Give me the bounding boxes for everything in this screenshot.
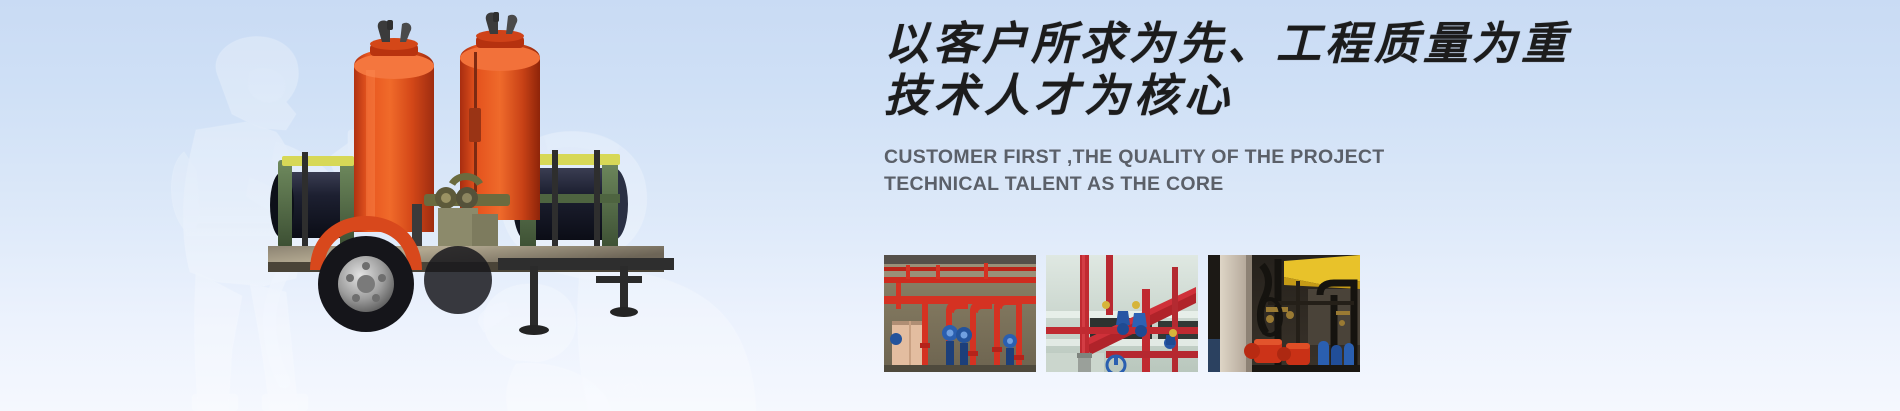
headline-line-2: 技术人才为核心 <box>884 70 1644 122</box>
thumbnail-strip <box>884 255 1360 372</box>
thumbnail-sprinkler-riser-room[interactable] <box>884 255 1036 372</box>
product-photo-mobile-foam-unit <box>262 8 682 338</box>
subtitle-line-2: TECHNICAL TALENT AS THE CORE <box>884 171 1644 198</box>
hero-text-block: 以客户所求为先、工程质量为重 技术人才为核心 CUSTOMER FIRST ,T… <box>884 18 1644 198</box>
hero-banner: 以客户所求为先、工程质量为重 技术人才为核心 CUSTOMER FIRST ,T… <box>0 0 1900 411</box>
thumbnail-stairwell-pipework[interactable] <box>1046 255 1198 372</box>
thumbnail-fire-pump-room[interactable] <box>1208 255 1360 372</box>
headline-line-1: 以客户所求为先、工程质量为重 <box>884 18 1644 70</box>
subtitle-line-1: CUSTOMER FIRST ,THE QUALITY OF THE PROJE… <box>884 144 1644 171</box>
subtitle-block: CUSTOMER FIRST ,THE QUALITY OF THE PROJE… <box>884 144 1644 198</box>
